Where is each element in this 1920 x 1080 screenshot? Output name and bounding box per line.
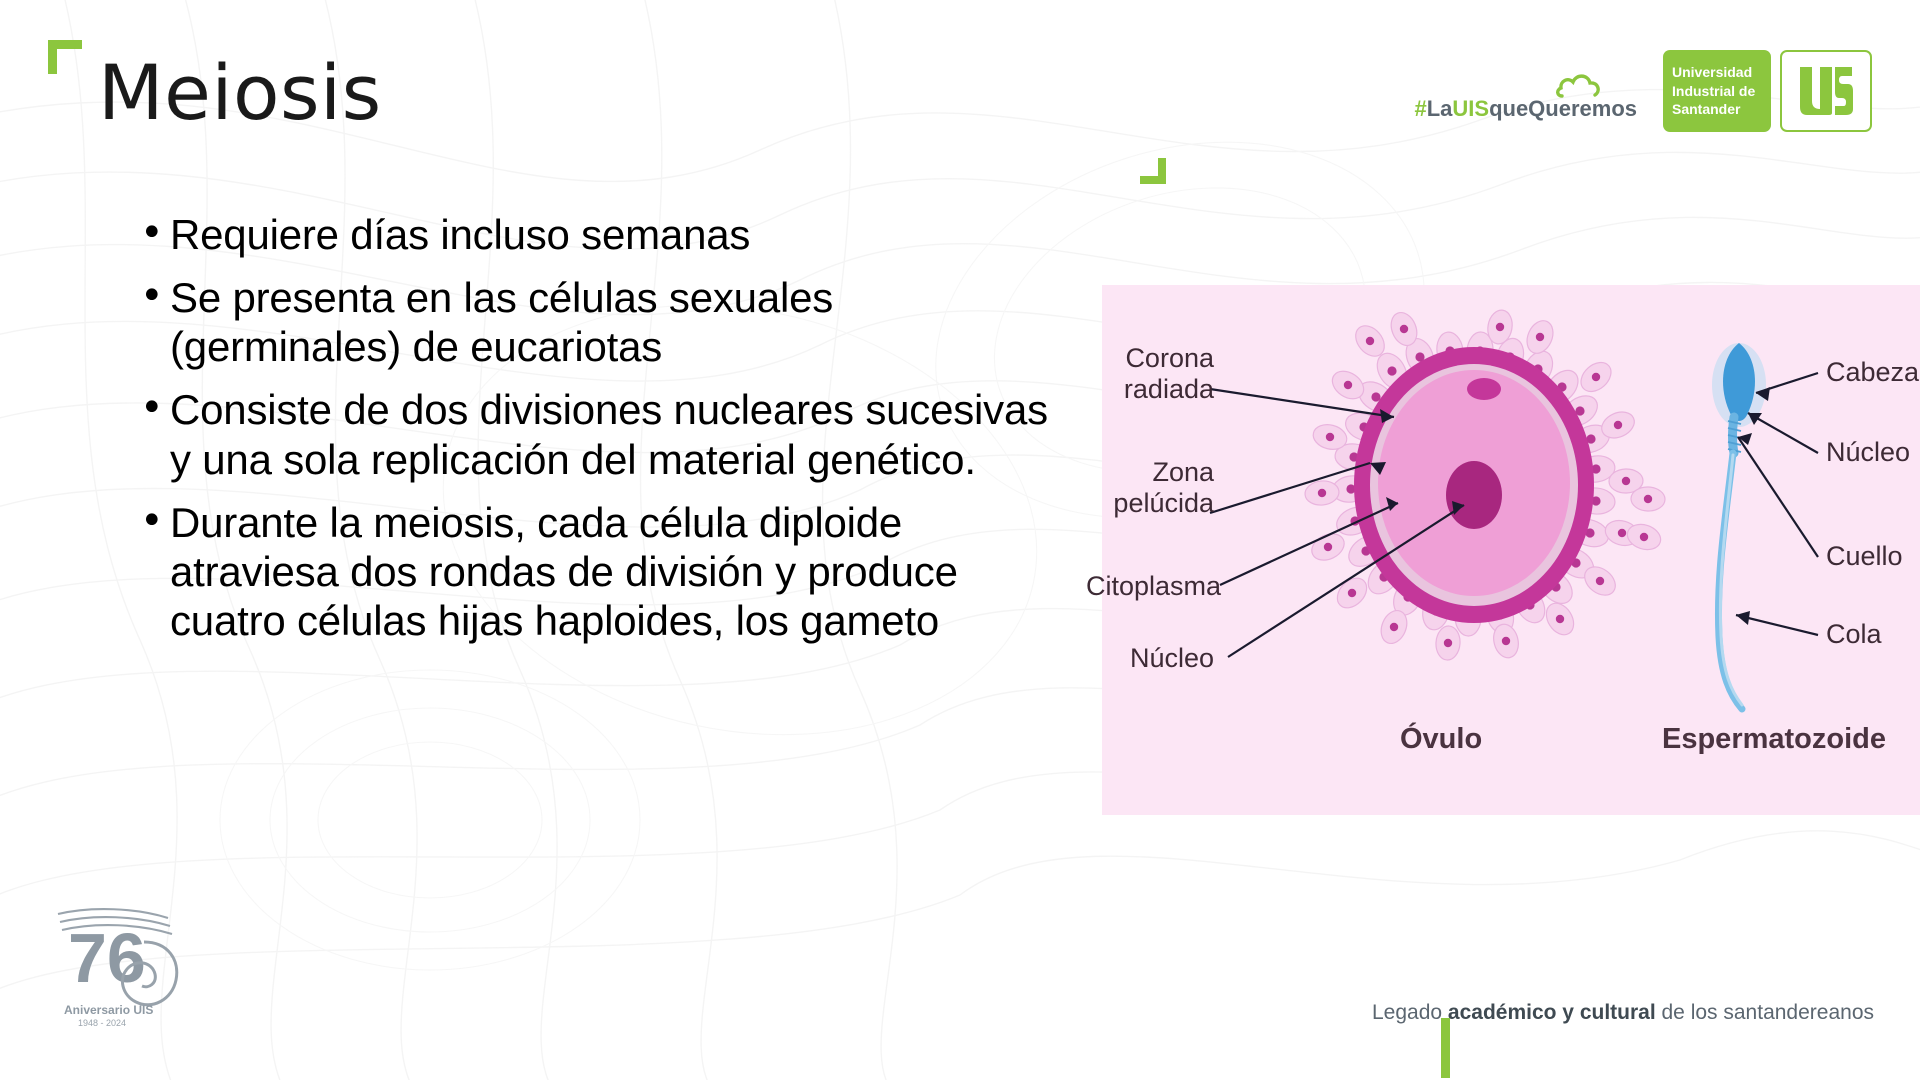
- corner-bracket-middle: [1140, 158, 1166, 184]
- hashtag-la: La: [1427, 96, 1453, 121]
- uis-shield-box: [1780, 50, 1872, 132]
- label-nucleo-ovulo: Núcleo: [1102, 643, 1214, 674]
- corner-bracket-top-left: [48, 40, 82, 74]
- anniversary-logo: 76 Aniversario UIS 1948 - 2024: [40, 890, 200, 1045]
- label-cola: Cola: [1826, 619, 1882, 650]
- bullet-marker-icon: •: [140, 273, 170, 320]
- label-nucleo-espermatozoide: Núcleo: [1826, 437, 1910, 468]
- university-line-1: Universidad: [1672, 63, 1762, 81]
- bullet-marker-icon: •: [140, 498, 170, 545]
- anniversary-years: 1948 - 2024: [78, 1018, 126, 1028]
- anniversary-label: Aniversario UIS: [64, 1003, 153, 1017]
- university-line-3: Santander: [1672, 100, 1762, 118]
- list-item-text: Se presenta en las células sexuales (ger…: [170, 273, 1070, 371]
- tagline-bold: académico y cultural: [1448, 1001, 1656, 1024]
- list-item-text: Requiere días incluso semanas: [170, 210, 1070, 259]
- label-corona-radiada: Corona radiada: [1102, 343, 1214, 405]
- page-title: Meiosis: [98, 55, 382, 131]
- biology-figure: Corona radiada Zona pelúcida Citoplasma …: [1102, 285, 1920, 815]
- university-name-box: Universidad Industrial de Santander: [1663, 50, 1771, 132]
- university-line-2: Industrial de: [1672, 82, 1762, 100]
- hashtag-logo: #LaUISqueQueremos: [1414, 96, 1637, 122]
- corner-bracket-bottom: [1441, 1018, 1467, 1078]
- bullet-list: • Requiere días incluso semanas • Se pre…: [140, 210, 1070, 659]
- uis-shield-icon: [1795, 63, 1857, 119]
- caption-espermatozoide: Espermatozoide: [1662, 723, 1886, 756]
- list-item-text: Consiste de dos divisiones nucleares suc…: [170, 385, 1070, 483]
- hashtag-uis: UIS: [1452, 96, 1489, 121]
- anniversary-number: 76: [68, 919, 146, 997]
- cloud-icon: [1556, 72, 1602, 98]
- list-item: • Se presenta en las células sexuales (g…: [140, 273, 1070, 371]
- list-item-text: Durante la meiosis, cada célula diploide…: [170, 498, 1070, 645]
- label-cabeza: Cabeza: [1826, 357, 1919, 388]
- label-citoplasma: Citoplasma: [1086, 571, 1214, 602]
- caption-ovulo: Óvulo: [1400, 723, 1482, 756]
- tagline-part-2: de los santandereanos: [1656, 1001, 1874, 1024]
- hashtag-symbol: #: [1414, 96, 1426, 121]
- list-item: • Consiste de dos divisiones nucleares s…: [140, 385, 1070, 483]
- uis-logo: Universidad Industrial de Santander: [1663, 50, 1872, 132]
- bullet-marker-icon: •: [140, 385, 170, 432]
- label-zona-pelucida: Zona pelúcida: [1102, 457, 1214, 519]
- hashtag-rest: queQueremos: [1489, 96, 1637, 121]
- tagline-part-1: Legado: [1372, 1001, 1448, 1024]
- list-item: • Durante la meiosis, cada célula diploi…: [140, 498, 1070, 645]
- list-item: • Requiere días incluso semanas: [140, 210, 1070, 259]
- label-cuello: Cuello: [1826, 541, 1903, 572]
- bullet-marker-icon: •: [140, 210, 170, 257]
